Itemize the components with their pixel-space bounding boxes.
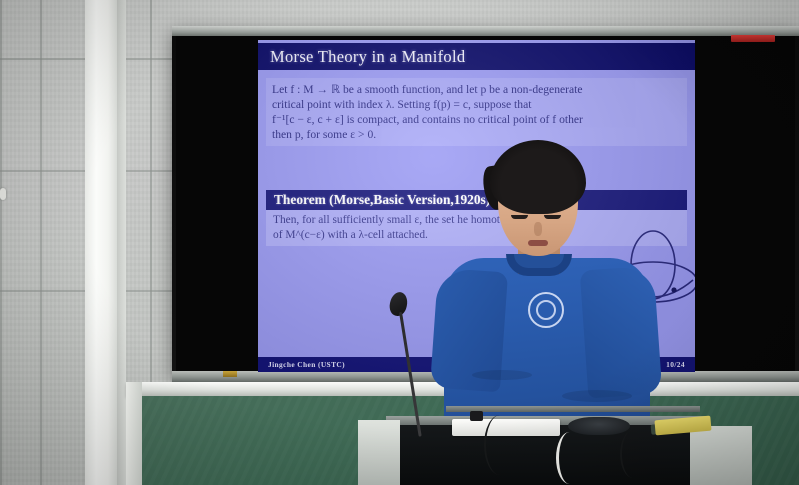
slide-title: Morse Theory in a Manifold [258, 43, 695, 70]
presenter-collar-inner [514, 254, 564, 268]
podium-side-right [690, 426, 752, 485]
shirt-fold [472, 370, 532, 380]
presenter-shoulder-right [580, 266, 663, 399]
display-red-label [731, 35, 775, 42]
chalkboard-frame-left [126, 382, 142, 485]
cable-white [556, 432, 583, 484]
wall-column-shadow [117, 0, 126, 485]
conference-speaker[interactable] [568, 417, 630, 435]
presenter-hair [490, 140, 586, 214]
tile-seam [0, 0, 2, 485]
slide-footer-page: 10/24 [666, 360, 685, 369]
presenter-nose [534, 222, 542, 236]
podium-desk-edge [446, 406, 700, 412]
slide-footer-author: Jingche Chen (USTC) [268, 360, 345, 369]
display-screw [223, 371, 237, 377]
shirt-emblem-inner [536, 300, 556, 320]
cable [484, 415, 516, 475]
lecture-hall-photo: Morse Theory in a Manifold Let f : M → ℝ… [0, 0, 799, 485]
slide-body-text: Let f : M → ℝ be a smooth function, and … [266, 78, 687, 146]
presenter-eye-left [511, 215, 528, 219]
slide-body-line: f⁻¹[c − ε, c + ε] is compact, and contai… [272, 112, 681, 127]
tile-seam [40, 0, 42, 485]
slide-body-line: Let f : M → ℝ be a smooth function, and … [272, 82, 681, 97]
wall-switch[interactable] [0, 188, 6, 200]
presenter [432, 140, 662, 440]
power-plug-icon [470, 411, 483, 421]
presenter-mouth [528, 240, 548, 246]
display-top-bezel [172, 26, 799, 36]
shirt-fold [562, 390, 632, 402]
cable [620, 430, 646, 478]
slide-body-line: critical point with index λ. Setting f(p… [272, 97, 681, 112]
wall-column [85, 0, 117, 485]
presenter-eye-right [544, 215, 561, 219]
shirt-emblem-icon [528, 292, 564, 328]
podium-side-left [358, 420, 400, 485]
